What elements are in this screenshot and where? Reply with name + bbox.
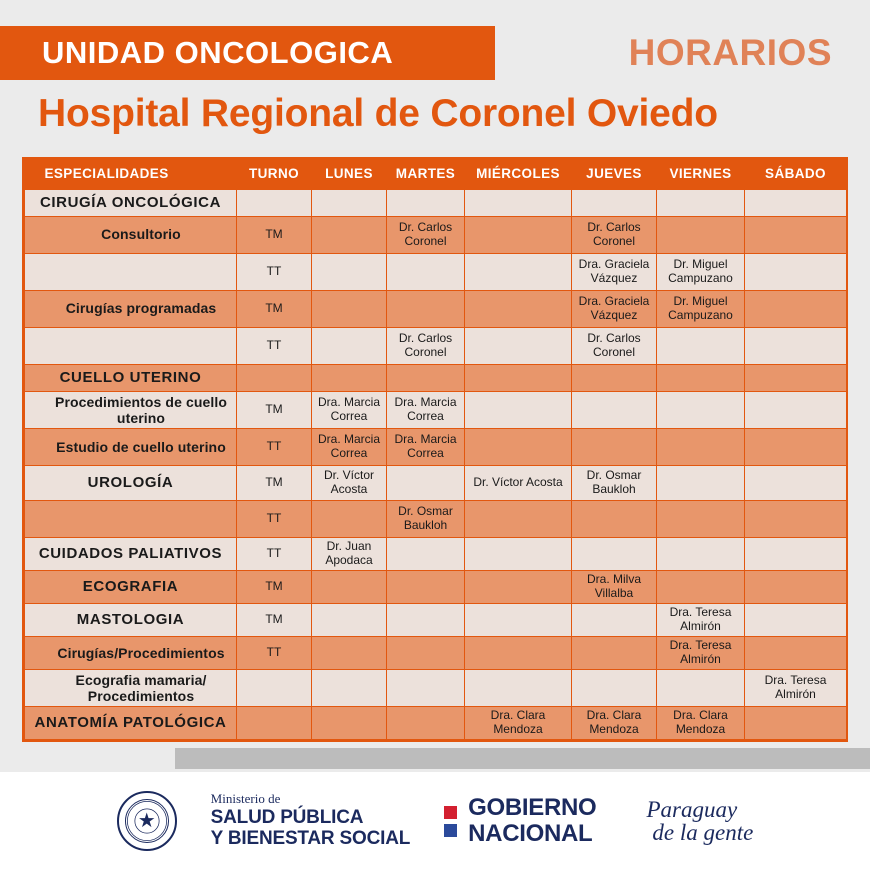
table-row: ECOGRAFIATMDra. Milva Villalba: [25, 570, 847, 603]
cell-especialidad: CUELLO UTERINO: [25, 364, 237, 391]
cell-miercoles: [465, 500, 572, 537]
cell-miercoles: [465, 428, 572, 465]
cell-lunes: [312, 603, 387, 636]
cell-especialidad: Cirugías programadas: [25, 290, 237, 327]
cell-viernes: Dra. Teresa Almirón: [657, 603, 745, 636]
cell-martes: [387, 253, 465, 290]
red-square-icon: [444, 806, 457, 819]
cell-turno: TT: [237, 500, 312, 537]
ministry-line3: Y BIENESTAR SOCIAL: [211, 828, 410, 849]
column-header-miercoles: MIÉRCOLES: [465, 159, 572, 189]
cell-viernes: [657, 537, 745, 570]
cell-turno: TM: [237, 216, 312, 253]
cell-martes: Dr. Carlos Coronel: [387, 216, 465, 253]
column-header-turno: TURNO: [237, 159, 312, 189]
cell-martes: Dr. Osmar Baukloh: [387, 500, 465, 537]
cell-sabado: [745, 428, 847, 465]
table-row: ANATOMÍA PATOLÓGICADra. Clara MendozaDra…: [25, 706, 847, 739]
table-row: ConsultorioTMDr. Carlos CoronelDr. Carlo…: [25, 216, 847, 253]
table-row: Cirugías/ProcedimientosTTDra. Teresa Alm…: [25, 636, 847, 669]
cell-sabado: [745, 636, 847, 669]
cell-turno: TT: [237, 537, 312, 570]
cell-miercoles: [465, 391, 572, 428]
cell-jueves: Dr. Carlos Coronel: [572, 216, 657, 253]
cell-especialidad: [25, 327, 237, 364]
table-header-row: ESPECIALIDADES TURNO LUNES MARTES MIÉRCO…: [25, 159, 847, 189]
cell-lunes: Dr. Juan Apodaca: [312, 537, 387, 570]
gray-divider-bar: [175, 748, 870, 769]
table-row: UROLOGÍATMDr. Víctor AcostaDr. Víctor Ac…: [25, 465, 847, 500]
gobierno-squares: [444, 806, 457, 837]
cell-sabado: [745, 603, 847, 636]
cell-turno: TT: [237, 428, 312, 465]
cell-jueves: [572, 189, 657, 216]
cell-miercoles: [465, 253, 572, 290]
cell-lunes: [312, 189, 387, 216]
table-row: Estudio de cuello uterinoTTDra. Marcia C…: [25, 428, 847, 465]
table-header: ESPECIALIDADES TURNO LUNES MARTES MIÉRCO…: [25, 159, 847, 189]
cell-martes: [387, 603, 465, 636]
cell-especialidad: Procedimientos de cuello uterino: [25, 391, 237, 428]
cell-martes: Dra. Marcia Correa: [387, 428, 465, 465]
table-row: CUIDADOS PALIATIVOSTTDr. Juan Apodaca: [25, 537, 847, 570]
cell-sabado: [745, 537, 847, 570]
table-row: TTDr. Osmar Baukloh: [25, 500, 847, 537]
table-row: MASTOLOGIATMDra. Teresa Almirón: [25, 603, 847, 636]
cell-lunes: Dr. Víctor Acosta: [312, 465, 387, 500]
cell-especialidad: [25, 253, 237, 290]
cell-viernes: [657, 327, 745, 364]
cell-martes: [387, 189, 465, 216]
cell-viernes: [657, 428, 745, 465]
cell-viernes: [657, 465, 745, 500]
cell-jueves: [572, 500, 657, 537]
cell-viernes: Dr. Miguel Campuzano: [657, 253, 745, 290]
footer-logos: ★ Ministerio de SALUD PÚBLICA Y BIENESTA…: [0, 772, 870, 870]
cell-viernes: [657, 189, 745, 216]
table-row: Ecografia mamaria/ ProcedimientosDra. Te…: [25, 669, 847, 706]
cell-lunes: [312, 290, 387, 327]
cell-miercoles: [465, 669, 572, 706]
column-header-sabado: SÁBADO: [745, 159, 847, 189]
cell-martes: [387, 570, 465, 603]
cell-especialidad: ANATOMÍA PATOLÓGICA: [25, 706, 237, 739]
cell-especialidad: UROLOGÍA: [25, 465, 237, 500]
cell-martes: [387, 465, 465, 500]
cell-miercoles: [465, 636, 572, 669]
gobierno-words: GOBIERNO NACIONAL: [468, 795, 596, 847]
cell-miercoles: [465, 189, 572, 216]
gobierno-nacional-logo: GOBIERNO NACIONAL: [444, 795, 596, 847]
cell-turno: TM: [237, 570, 312, 603]
table-row: TTDra. Graciela VázquezDr. Miguel Campuz…: [25, 253, 847, 290]
cell-jueves: [572, 537, 657, 570]
ministry-line1: Ministerio de: [211, 792, 410, 807]
cell-lunes: Dra. Marcia Correa: [312, 428, 387, 465]
gobierno-line2: NACIONAL: [468, 821, 596, 847]
column-header-especialidades: ESPECIALIDADES: [25, 159, 237, 189]
cell-turno: TM: [237, 603, 312, 636]
cell-jueves: [572, 603, 657, 636]
cell-viernes: [657, 669, 745, 706]
cell-martes: [387, 636, 465, 669]
cell-jueves: Dra. Graciela Vázquez: [572, 253, 657, 290]
cell-especialidad: ECOGRAFIA: [25, 570, 237, 603]
horarios-label: HORARIOS: [629, 32, 832, 74]
cell-sabado: [745, 189, 847, 216]
cell-martes: [387, 290, 465, 327]
column-header-martes: MARTES: [387, 159, 465, 189]
cell-especialidad: Cirugías/Procedimientos: [25, 636, 237, 669]
cell-turno: TT: [237, 636, 312, 669]
cell-miercoles: [465, 537, 572, 570]
cell-lunes: [312, 570, 387, 603]
cell-sabado: Dra. Teresa Almirón: [745, 669, 847, 706]
cell-lunes: [312, 327, 387, 364]
paraguay-slogan: Paraguay de la gente: [630, 798, 753, 844]
gobierno-line1: GOBIERNO: [468, 795, 596, 821]
cell-jueves: Dra. Graciela Vázquez: [572, 290, 657, 327]
cell-turno: [237, 189, 312, 216]
cell-viernes: Dra. Teresa Almirón: [657, 636, 745, 669]
paraguay-seal-icon: ★: [117, 791, 177, 851]
banner-title: UNIDAD ONCOLOGICA: [0, 35, 393, 71]
cell-martes: [387, 364, 465, 391]
cell-especialidad: Consultorio: [25, 216, 237, 253]
page-title: Hospital Regional de Coronel Oviedo: [38, 92, 718, 136]
cell-viernes: [657, 570, 745, 603]
cell-lunes: [312, 669, 387, 706]
cell-jueves: Dr. Carlos Coronel: [572, 327, 657, 364]
cell-martes: Dra. Marcia Correa: [387, 391, 465, 428]
blue-square-icon: [444, 824, 457, 837]
unit-banner: UNIDAD ONCOLOGICA: [0, 26, 495, 80]
cell-especialidad: CUIDADOS PALIATIVOS: [25, 537, 237, 570]
cell-martes: [387, 537, 465, 570]
cell-especialidad: Estudio de cuello uterino: [25, 428, 237, 465]
cell-viernes: Dra. Clara Mendoza: [657, 706, 745, 739]
table-row: Procedimientos de cuello uterinoTMDra. M…: [25, 391, 847, 428]
table-row: CIRUGÍA ONCOLÓGICA: [25, 189, 847, 216]
cell-turno: TM: [237, 290, 312, 327]
cell-lunes: [312, 500, 387, 537]
cell-miercoles: [465, 290, 572, 327]
cell-lunes: [312, 636, 387, 669]
schedule-table-container: ESPECIALIDADES TURNO LUNES MARTES MIÉRCO…: [22, 157, 848, 742]
cell-viernes: [657, 500, 745, 537]
cell-jueves: [572, 364, 657, 391]
cell-sabado: [745, 290, 847, 327]
cell-martes: [387, 669, 465, 706]
slogan-line2: de la gente: [630, 821, 753, 844]
cell-lunes: [312, 253, 387, 290]
cell-turno: [237, 364, 312, 391]
cell-turno: TT: [237, 253, 312, 290]
cell-lunes: [312, 706, 387, 739]
cell-especialidad: CIRUGÍA ONCOLÓGICA: [25, 189, 237, 216]
cell-miercoles: [465, 216, 572, 253]
ministry-line2: SALUD PÚBLICA: [211, 807, 410, 828]
schedule-poster: UNIDAD ONCOLOGICA HORARIOS Hospital Regi…: [0, 0, 870, 870]
table-row: CUELLO UTERINO: [25, 364, 847, 391]
column-header-jueves: JUEVES: [572, 159, 657, 189]
cell-lunes: [312, 364, 387, 391]
cell-miercoles: Dr. Víctor Acosta: [465, 465, 572, 500]
cell-lunes: Dra. Marcia Correa: [312, 391, 387, 428]
cell-sabado: [745, 570, 847, 603]
cell-viernes: [657, 216, 745, 253]
cell-sabado: [745, 253, 847, 290]
cell-lunes: [312, 216, 387, 253]
slogan-line1: Paraguay: [630, 798, 753, 821]
cell-miercoles: [465, 364, 572, 391]
column-header-viernes: VIERNES: [657, 159, 745, 189]
cell-turno: TM: [237, 391, 312, 428]
cell-viernes: Dr. Miguel Campuzano: [657, 290, 745, 327]
cell-sabado: [745, 327, 847, 364]
cell-jueves: [572, 428, 657, 465]
cell-miercoles: [465, 327, 572, 364]
cell-miercoles: [465, 570, 572, 603]
cell-viernes: [657, 364, 745, 391]
cell-viernes: [657, 391, 745, 428]
cell-sabado: [745, 391, 847, 428]
cell-turno: TM: [237, 465, 312, 500]
cell-martes: [387, 706, 465, 739]
table-row: Cirugías programadasTMDra. Graciela Vázq…: [25, 290, 847, 327]
cell-especialidad: MASTOLOGIA: [25, 603, 237, 636]
cell-turno: [237, 706, 312, 739]
table-row: TTDr. Carlos CoronelDr. Carlos Coronel: [25, 327, 847, 364]
cell-miercoles: Dra. Clara Mendoza: [465, 706, 572, 739]
cell-miercoles: [465, 603, 572, 636]
table-body: CIRUGÍA ONCOLÓGICAConsultorioTMDr. Carlo…: [25, 189, 847, 739]
cell-sabado: [745, 465, 847, 500]
cell-jueves: Dra. Milva Villalba: [572, 570, 657, 603]
cell-turno: [237, 669, 312, 706]
cell-sabado: [745, 706, 847, 739]
seal-star-icon: ★: [138, 811, 156, 831]
cell-jueves: [572, 669, 657, 706]
cell-sabado: [745, 364, 847, 391]
cell-sabado: [745, 500, 847, 537]
cell-jueves: [572, 391, 657, 428]
cell-especialidad: Ecografia mamaria/ Procedimientos: [25, 669, 237, 706]
column-header-lunes: LUNES: [312, 159, 387, 189]
ministry-logo: Ministerio de SALUD PÚBLICA Y BIENESTAR …: [211, 792, 410, 849]
schedule-table: ESPECIALIDADES TURNO LUNES MARTES MIÉRCO…: [24, 159, 847, 740]
cell-martes: Dr. Carlos Coronel: [387, 327, 465, 364]
cell-jueves: [572, 636, 657, 669]
cell-jueves: Dr. Osmar Baukloh: [572, 465, 657, 500]
cell-turno: TT: [237, 327, 312, 364]
cell-especialidad: [25, 500, 237, 537]
cell-jueves: Dra. Clara Mendoza: [572, 706, 657, 739]
cell-sabado: [745, 216, 847, 253]
